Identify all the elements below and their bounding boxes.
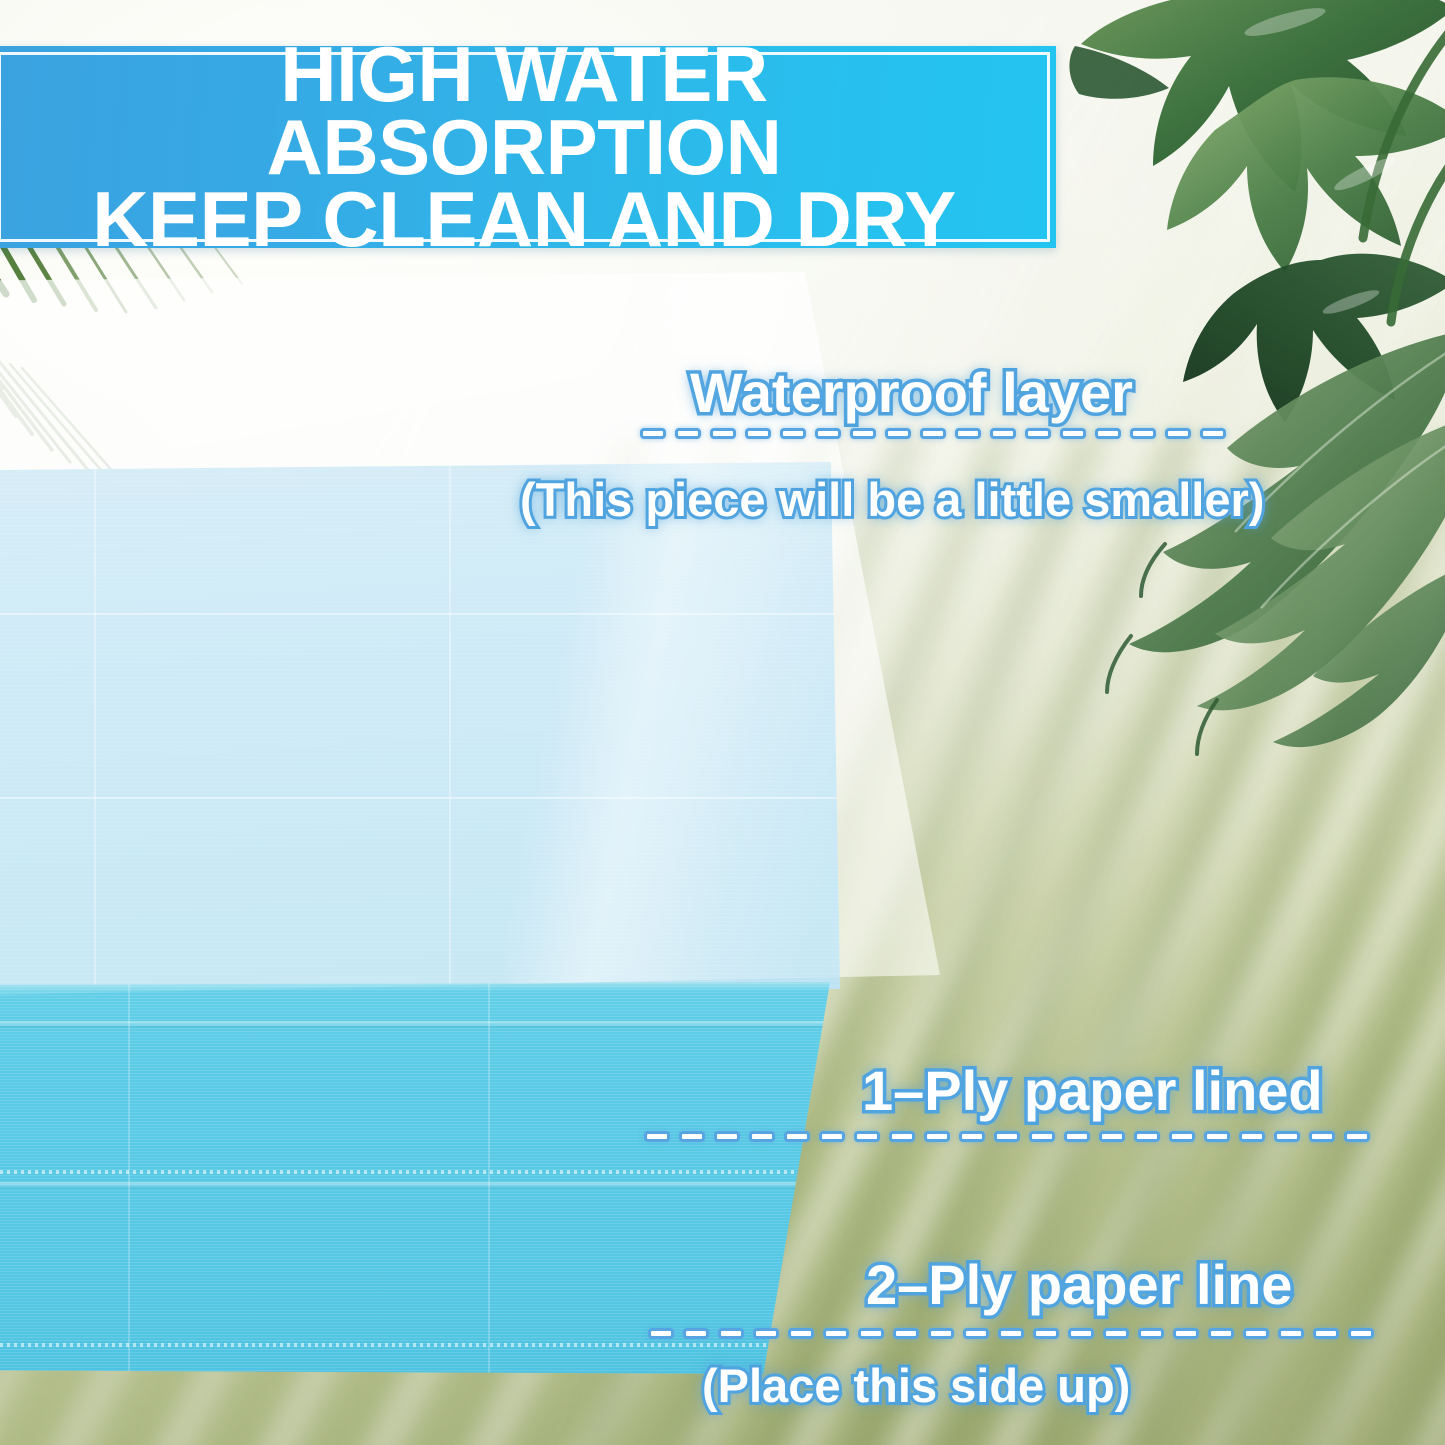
callout-1ply-text: 1–Ply paper lined (862, 1058, 1323, 1123)
dash-segment (963, 1328, 989, 1339)
callout-2ply-text: 2–Ply paper line (866, 1252, 1292, 1317)
dash-segment (924, 1131, 950, 1142)
dash-segment (1274, 1131, 1300, 1142)
callout-waterproof-label: Waterproof layer (690, 360, 1133, 425)
callout-1ply-label: 1–Ply paper lined (862, 1058, 1323, 1123)
dash-segment (644, 1131, 670, 1142)
dash-segment (959, 1131, 985, 1142)
sheet-seam (0, 1021, 830, 1026)
sheet-stitch-line (0, 1343, 830, 1347)
callout-2ply-subtext: (Place this side up) (702, 1358, 1130, 1413)
dash-segment (1204, 1131, 1230, 1142)
dash-segment (1208, 1328, 1234, 1339)
dash-segment (710, 428, 736, 439)
dash-segment (998, 1328, 1024, 1339)
dash-segment (1064, 1131, 1090, 1142)
dash-segment (1309, 1131, 1335, 1142)
dash-segment (745, 428, 771, 439)
dash-segment (679, 1131, 705, 1142)
dash-segment (648, 1328, 674, 1339)
dash-segment (1099, 1131, 1125, 1142)
dash-segment (1278, 1328, 1304, 1339)
dash-segment (718, 1328, 744, 1339)
banner-headline: HIGH WATER ABSORPTION KEEP CLEAN AND DRY (0, 38, 1056, 256)
dash-segment (994, 1131, 1020, 1142)
dash-segment (1029, 1131, 1055, 1142)
dash-segment (675, 428, 701, 439)
header-banner: HIGH WATER ABSORPTION KEEP CLEAN AND DRY (0, 46, 1056, 248)
dash-segment (823, 1328, 849, 1339)
callout-2ply-subtext-value: (Place this side up) (702, 1358, 1130, 1413)
dash-segment (640, 428, 666, 439)
dash-segment (1130, 428, 1156, 439)
dash-segment (683, 1328, 709, 1339)
dash-segment (955, 428, 981, 439)
product-infographic: HIGH WATER ABSORPTION KEEP CLEAN AND DRY… (0, 0, 1445, 1445)
dash-segment (749, 1131, 775, 1142)
callout-waterproof-subtext-value: (This piece will be a little smaller) (520, 472, 1264, 527)
dash-segment (885, 428, 911, 439)
sheet-seam (0, 1182, 830, 1187)
dash-segment (1344, 1131, 1370, 1142)
dash-segment (1103, 1328, 1129, 1339)
dash-segment (850, 428, 876, 439)
dash-segment (753, 1328, 779, 1339)
dash-segment (1173, 1328, 1199, 1339)
dash-segment (854, 1131, 880, 1142)
sheet-weave-texture (0, 982, 830, 1374)
dash-segment (1025, 428, 1051, 439)
callout-1ply-dashed-line (644, 1131, 1379, 1142)
dash-segment (893, 1328, 919, 1339)
callout-waterproof-subtext: (This piece will be a little smaller) (520, 472, 1264, 527)
dash-segment (1060, 428, 1086, 439)
dash-segment (784, 1131, 810, 1142)
callout-waterproof-text: Waterproof layer (690, 360, 1133, 425)
dash-segment (1169, 1131, 1195, 1142)
callout-2ply-label: 2–Ply paper line (866, 1252, 1292, 1317)
sheet-crease-vertical (488, 982, 490, 1374)
dash-segment (1068, 1328, 1094, 1339)
dash-segment (889, 1131, 915, 1142)
cyan-sheet-layer (0, 982, 830, 1374)
banner-headline-line1: HIGH WATER ABSORPTION (16, 38, 1032, 183)
dash-segment (780, 428, 806, 439)
banner-headline-line2: KEEP CLEAN AND DRY (16, 183, 1032, 256)
dash-segment (815, 428, 841, 439)
callout-waterproof-dashed-line (640, 428, 1235, 439)
dash-segment (819, 1131, 845, 1142)
dash-segment (788, 1328, 814, 1339)
dash-segment (1095, 428, 1121, 439)
callout-2ply-dashed-line (648, 1328, 1383, 1339)
dash-segment (1313, 1328, 1339, 1339)
sheet-stitch-line (0, 1170, 830, 1174)
dash-segment (1239, 1131, 1265, 1142)
dash-segment (1138, 1328, 1164, 1339)
dash-segment (1165, 428, 1191, 439)
dash-segment (920, 428, 946, 439)
dash-segment (990, 428, 1016, 439)
dash-segment (714, 1131, 740, 1142)
dash-segment (1243, 1328, 1269, 1339)
dash-segment (1033, 1328, 1059, 1339)
dash-segment (858, 1328, 884, 1339)
dash-segment (1348, 1328, 1374, 1339)
dash-segment (1200, 428, 1226, 439)
sheet-crease-vertical (128, 982, 130, 1374)
dash-segment (1134, 1131, 1160, 1142)
dash-segment (928, 1328, 954, 1339)
